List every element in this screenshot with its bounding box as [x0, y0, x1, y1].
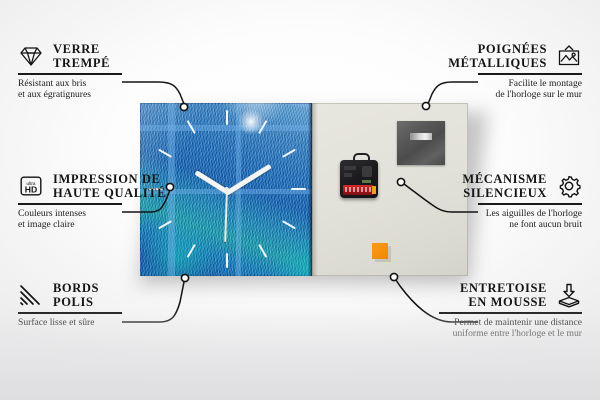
gear-icon	[556, 173, 582, 199]
callout-rule	[18, 73, 122, 75]
callout-subtitle: Résistant aux briset aux égratignures	[18, 78, 228, 101]
infographic-canvas: VERRETREMPÉ Résistant aux briset aux égr…	[0, 0, 600, 400]
bracket-slot	[410, 133, 432, 140]
battery	[343, 185, 373, 195]
foam-spacer-icon	[556, 282, 582, 308]
hour-marker	[282, 220, 296, 229]
minute-hand	[225, 163, 272, 195]
mechanism-detail	[362, 166, 372, 177]
diamond-icon	[18, 43, 44, 69]
battery-label	[345, 187, 371, 192]
mechanism-detail	[344, 173, 352, 177]
callout-title: MÉCANISMESILENCIEUX	[462, 172, 547, 200]
hour-marker	[258, 120, 267, 134]
callout-title: IMPRESSION DEHAUTE QUALITÉ	[53, 172, 166, 200]
callout-header: MÉCANISMESILENCIEUX	[372, 172, 582, 200]
callout-header: BORDSPOLIS	[18, 281, 228, 309]
svg-text:HD: HD	[25, 184, 37, 194]
callout-header: POIGNÉESMÉTALLIQUES	[372, 42, 582, 70]
callout-title: VERRETREMPÉ	[53, 42, 110, 70]
callout-title: POIGNÉESMÉTALLIQUES	[448, 42, 547, 70]
callout-header: VERRETREMPÉ	[18, 42, 228, 70]
callout-subtitle: Couleurs intenseset image claire	[18, 208, 228, 231]
callout-subtitle: Facilite le montagede l'horloge sur le m…	[372, 78, 582, 101]
polished-edge-icon	[18, 282, 44, 308]
callout-verre-trempe: VERRETREMPÉ Résistant aux briset aux égr…	[18, 42, 228, 100]
hour-marker	[226, 253, 228, 268]
callout-rule	[478, 203, 582, 205]
callout-rule	[18, 312, 122, 314]
ultra-hd-icon: ultra HD	[18, 173, 44, 199]
hour-marker	[258, 244, 267, 258]
metal-hanger-bracket	[397, 121, 445, 165]
callout-entretoise-en-mousse: ENTRETOISEEN MOUSSE Permet de maintenir …	[335, 281, 582, 339]
callout-rule	[439, 312, 582, 314]
callout-poignees-metalliques: POIGNÉESMÉTALLIQUES Facilite le montaged…	[372, 42, 582, 100]
mechanism-detail	[344, 166, 356, 170]
callout-subtitle: Permet de maintenir une distanceuniforme…	[335, 317, 582, 340]
callout-title: BORDSPOLIS	[53, 281, 99, 309]
hour-marker	[226, 110, 228, 125]
mechanism-hook	[353, 153, 370, 164]
picture-hanger-icon	[556, 43, 582, 69]
callout-header: ultra HD IMPRESSION DEHAUTE QUALITÉ	[18, 172, 228, 200]
callout-title: ENTRETOISEEN MOUSSE	[460, 281, 547, 309]
foam-spacer	[372, 243, 388, 259]
hour-marker	[187, 244, 196, 258]
callout-rule	[478, 73, 582, 75]
callout-mecanisme-silencieux: MÉCANISMESILENCIEUX Les aiguilles de l'h…	[372, 172, 582, 230]
callout-header: ENTRETOISEEN MOUSSE	[335, 281, 582, 309]
callout-bords-polis: BORDSPOLIS Surface lisse et sûre	[18, 281, 228, 328]
hour-marker	[282, 149, 296, 158]
hour-marker	[187, 120, 196, 134]
mechanism-detail	[362, 180, 371, 183]
hour-marker	[158, 149, 172, 158]
callout-rule	[18, 203, 122, 205]
callout-subtitle: Les aiguilles de l'horlogene font aucun …	[372, 208, 582, 231]
callout-subtitle: Surface lisse et sûre	[18, 317, 228, 328]
callout-impression-haute-qualite: ultra HD IMPRESSION DEHAUTE QUALITÉ Coul…	[18, 172, 228, 230]
hour-marker	[291, 188, 306, 190]
